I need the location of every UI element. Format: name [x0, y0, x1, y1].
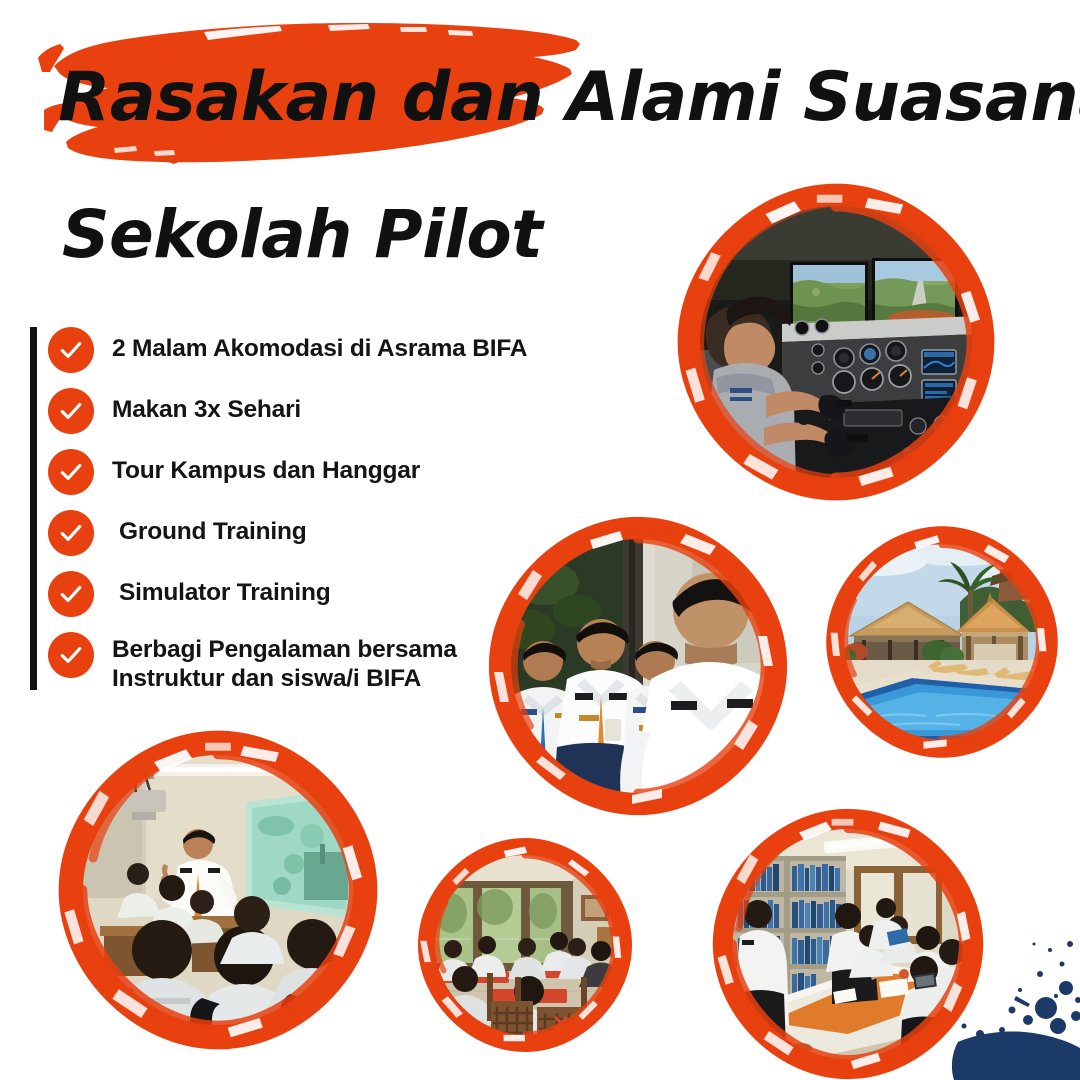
feature-label: Ground Training	[94, 509, 307, 546]
feature-label: 2 Malam Akomodasi di Asrama BIFA	[94, 326, 527, 363]
photo-dining	[418, 838, 632, 1052]
feature-item: Simulator Training	[48, 570, 568, 621]
photo-library-image	[728, 824, 968, 1064]
feature-label: Makan 3x Sehari	[94, 387, 301, 424]
headline-line-1: Rasakan dan Alami Suasana	[58, 58, 1080, 137]
check-circle-icon	[48, 327, 94, 373]
photo-library	[712, 808, 984, 1080]
feature-label: Simulator Training	[94, 570, 330, 607]
photo-simulator	[676, 182, 996, 502]
feature-item: Makan 3x Sehari	[48, 387, 568, 438]
photo-pool-image	[840, 540, 1044, 744]
check-circle-icon	[48, 449, 94, 495]
photo-cadets-image	[505, 533, 771, 799]
promotional-poster: Rasakan dan Alami Suasana Sekolah Pilot …	[0, 0, 1080, 1080]
photo-cadets	[488, 516, 788, 816]
check-circle-icon	[48, 571, 94, 617]
photo-dining-image	[431, 851, 619, 1039]
list-vertical-rule	[30, 327, 37, 690]
feature-item: Ground Training	[48, 509, 568, 560]
feature-item: Tour Kampus dan Hanggar	[48, 448, 568, 499]
photo-simulator-image	[694, 200, 978, 484]
photo-classroom-image	[76, 748, 360, 1032]
feature-label: Tour Kampus dan Hanggar	[94, 448, 420, 485]
photo-classroom	[58, 730, 378, 1050]
feature-item: 2 Malam Akomodasi di Asrama BIFA	[48, 326, 568, 377]
check-circle-icon	[48, 510, 94, 556]
headline-line-2: Sekolah Pilot	[62, 196, 542, 273]
photo-pool	[826, 526, 1058, 758]
check-circle-icon	[48, 632, 94, 678]
check-circle-icon	[48, 388, 94, 434]
